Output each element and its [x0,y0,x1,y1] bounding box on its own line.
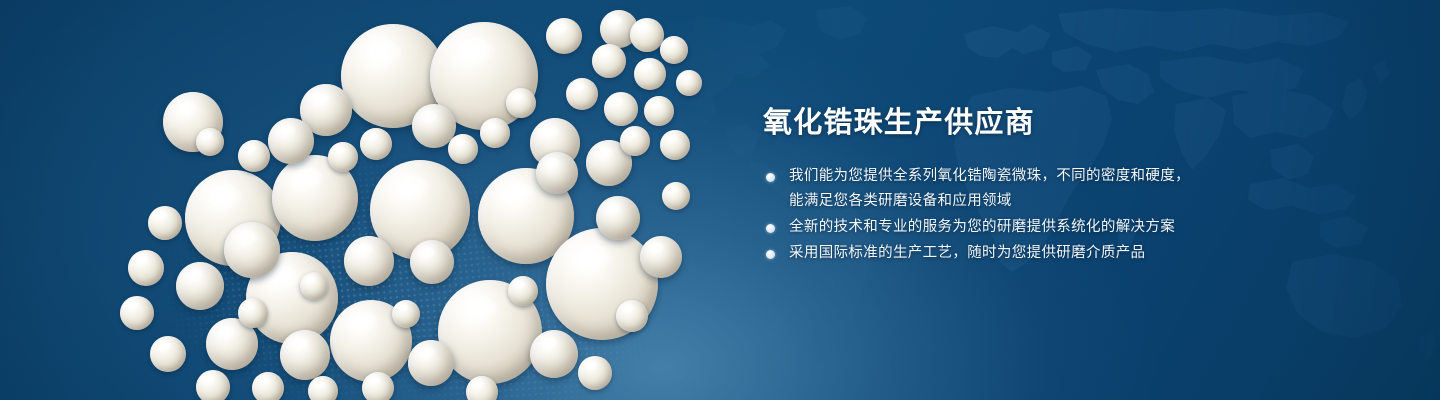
list-item-line: 采用国际标准的生产工艺，随时为您提供研磨介质产品 [789,241,1383,266]
bullet-dot-icon [766,224,775,233]
bullet-dot-icon [766,250,775,259]
list-item-line: 能满足您各类研磨设备和应用领域 [789,189,1383,214]
page-title: 氧化锆珠生产供应商 [763,104,1383,142]
list-item-line: 我们能为您提供全系列氧化锆陶瓷微珠，不同的密度和硬度， [789,164,1383,189]
banner-copy: 氧化锆珠生产供应商 我们能为您提供全系列氧化锆陶瓷微珠，不同的密度和硬度， 能满… [763,104,1383,266]
list-item-line: 全新的技术和专业的服务为您的研磨提供系统化的解决方案 [789,215,1383,240]
list-item: 全新的技术和专业的服务为您的研磨提供系统化的解决方案 [763,215,1383,240]
hero-banner: 氧化锆珠生产供应商 我们能为您提供全系列氧化锆陶瓷微珠，不同的密度和硬度， 能满… [0,0,1440,400]
list-item: 采用国际标准的生产工艺，随时为您提供研磨介质产品 [763,241,1383,266]
feature-bullet-list: 我们能为您提供全系列氧化锆陶瓷微珠，不同的密度和硬度， 能满足您各类研磨设备和应… [763,164,1383,266]
bullet-dot-icon [766,173,775,182]
list-item: 我们能为您提供全系列氧化锆陶瓷微珠，不同的密度和硬度， 能满足您各类研磨设备和应… [763,164,1383,214]
